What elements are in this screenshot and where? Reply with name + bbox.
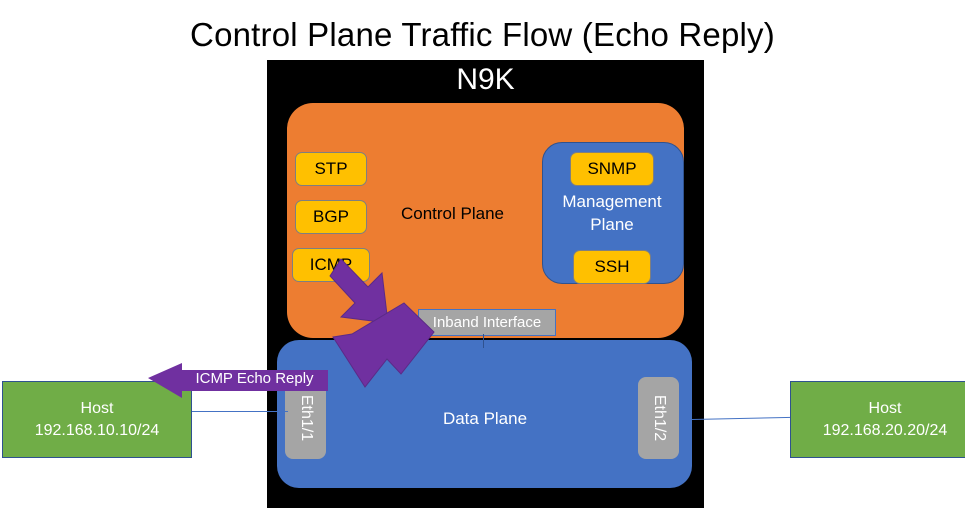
protocol-chip-icmp[interactable]: ICMP [292,248,370,282]
n9k-device-label: N9K [267,63,704,97]
link-host-left-to-eth1-1 [190,411,288,412]
page-title: Control Plane Traffic Flow (Echo Reply) [0,16,965,54]
port-eth1-2[interactable]: Eth1/2 [638,377,679,459]
protocol-chip-ssh[interactable]: SSH [573,250,651,284]
protocol-chip-stp[interactable]: STP [295,152,367,186]
protocol-chip-bgp[interactable]: BGP [295,200,367,234]
management-plane-label: Management Plane [548,190,676,236]
host-left-address: 192.168.10.10/24 [35,420,160,442]
diagram-canvas: Control Plane Traffic Flow (Echo Reply) … [0,0,965,522]
host-left[interactable]: Host 192.168.10.10/24 [2,381,192,458]
host-right[interactable]: Host 192.168.20.20/24 [790,381,965,458]
host-right-address: 192.168.20.20/24 [823,420,948,442]
data-plane-label: Data Plane [400,409,570,429]
link-host-right-to-eth1-2 [692,417,792,420]
protocol-chip-snmp[interactable]: SNMP [570,152,654,186]
inband-interface-label[interactable]: Inband Interface [418,309,556,336]
port-eth1-2-label: Eth1/2 [650,395,668,441]
inband-interface-connector [483,334,484,348]
host-right-title: Host [869,398,902,420]
host-left-title: Host [81,398,114,420]
control-plane-label: Control Plane [370,204,535,224]
port-eth1-1-label: Eth1/1 [297,395,315,441]
icmp-echo-reply-label: ICMP Echo Reply [183,366,326,391]
